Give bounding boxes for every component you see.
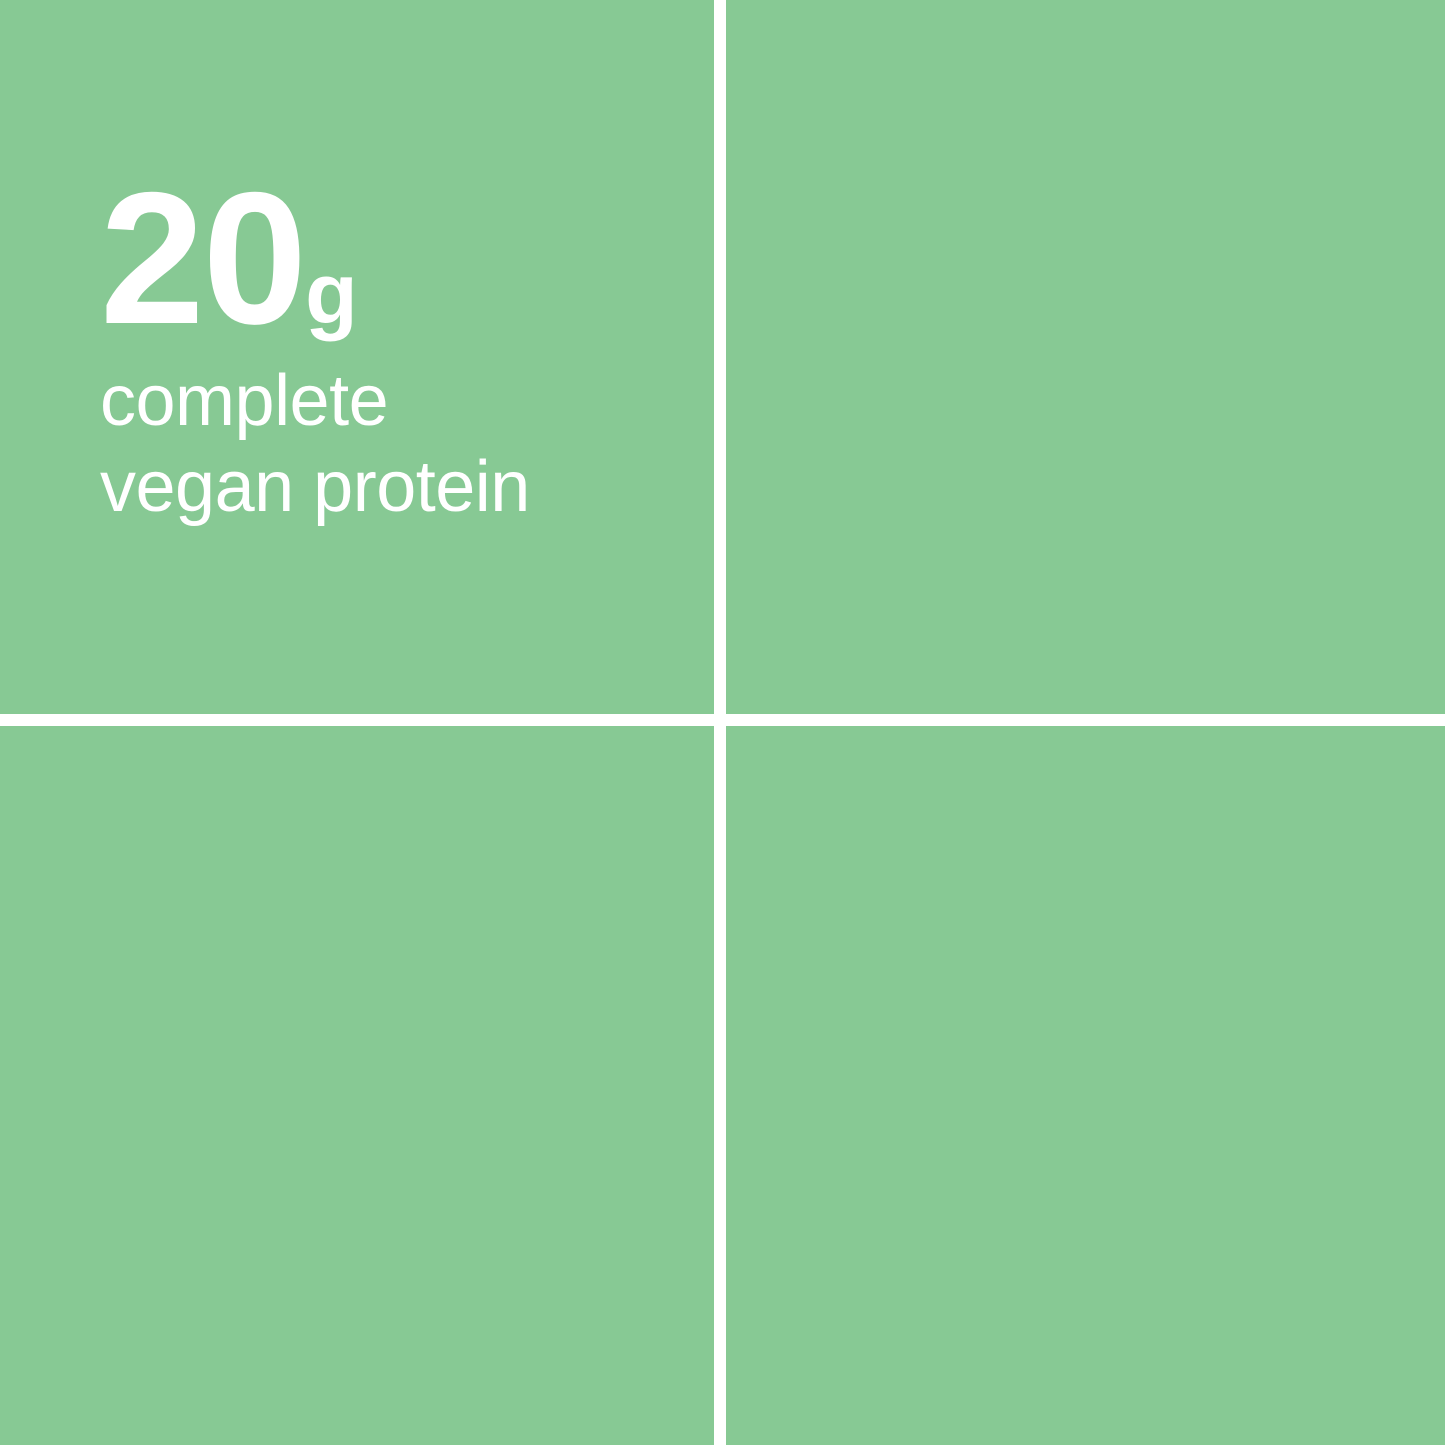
protein-amount-unit: g: [305, 245, 357, 344]
protein-description-line-2: vegan protein: [100, 444, 660, 530]
panel-protein: 20g complete vegan protein: [0, 0, 714, 714]
panel-taste: mixes well & tastes great with no bad af…: [0, 726, 714, 1445]
protein-description: complete vegan protein: [100, 358, 660, 531]
panel-certifications: NON-GMO GLUTEN FREE SOY FREE DAIRY FREE …: [726, 726, 1445, 1445]
panel-prebiotics: prebiotics to support optimal gut health: [726, 0, 1445, 714]
product-benefits-infographic: 20g complete vegan protein: [0, 0, 1445, 1445]
protein-description-line-1: complete: [100, 358, 660, 444]
horizontal-divider: [0, 714, 1445, 726]
protein-amount-value: 20: [100, 168, 305, 348]
protein-amount-group: 20g: [100, 168, 357, 348]
